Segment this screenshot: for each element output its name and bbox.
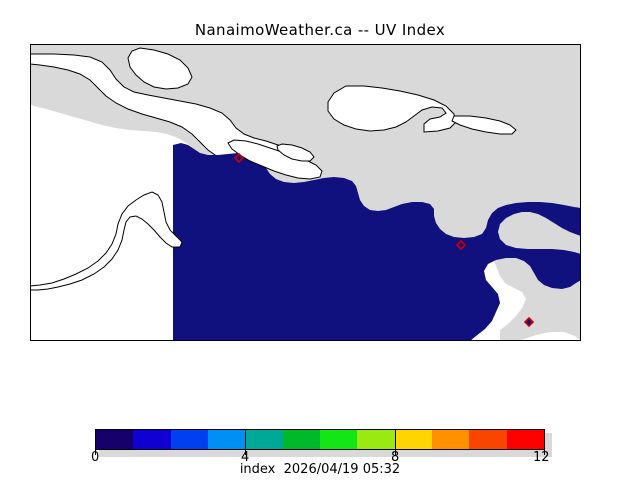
colorbar: [95, 429, 545, 450]
colorbar-band-5: [283, 430, 320, 449]
colorbar-band-2: [171, 430, 208, 449]
colorbar-shadow-bottom: [99, 450, 552, 457]
colorbar-band-3: [208, 430, 245, 449]
colorbar-caption: index 2026/04/19 05:32: [0, 462, 640, 477]
station-marker-layer: [30, 44, 581, 341]
station-marker-2[interactable]: [457, 241, 465, 249]
colorbar-gradient[interactable]: [95, 429, 545, 450]
colorbar-band-8: [395, 430, 432, 449]
colorbar-band-6: [320, 430, 357, 449]
station-marker-1[interactable]: [235, 154, 243, 162]
page-title: NanaimoWeather.ca -- UV Index: [0, 21, 640, 39]
colorbar-band-9: [432, 430, 469, 449]
colorbar-divider-8: [395, 429, 396, 450]
uv-index-map-page: NanaimoWeather.ca -- UV Index: [0, 0, 640, 480]
station-marker-3[interactable]: [525, 318, 533, 326]
map-plot-area[interactable]: [30, 44, 581, 341]
colorbar-band-4: [245, 430, 282, 449]
colorbar-band-7: [357, 430, 394, 449]
colorbar-band-0: [96, 430, 133, 449]
colorbar-band-11: [507, 430, 544, 449]
colorbar-band-1: [133, 430, 170, 449]
colorbar-divider-4: [245, 429, 246, 450]
colorbar-band-10: [469, 430, 506, 449]
